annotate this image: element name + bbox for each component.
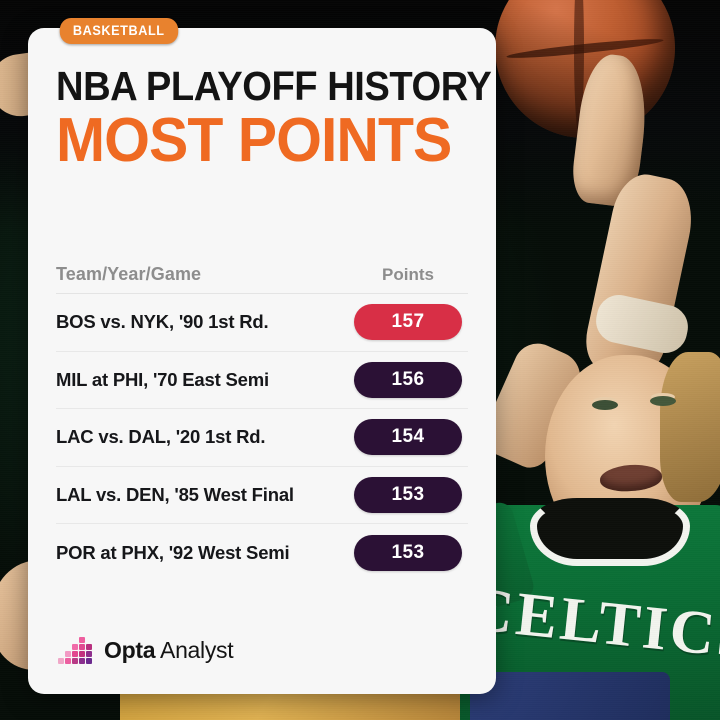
card-footer: Opta Analyst <box>28 606 496 694</box>
brand-wordmark: Opta Analyst <box>104 637 233 664</box>
table-row: LAC vs. DAL, '20 1st Rd.154 <box>56 409 468 467</box>
opta-bar-mark-icon <box>58 636 94 664</box>
card-header: NBA PLAYOFF HISTORY MOST POINTS <box>28 28 496 172</box>
points-pill: 154 <box>354 419 462 455</box>
row-team-label: LAC vs. DAL, '20 1st Rd. <box>56 426 348 448</box>
table-header-row: Team/Year/Game Points <box>56 246 468 294</box>
row-team-label: BOS vs. NYK, '90 1st Rd. <box>56 311 348 333</box>
background-shorts-right <box>470 672 670 720</box>
row-points-cell: 153 <box>348 477 468 513</box>
points-pill: 156 <box>354 362 462 398</box>
logo-square <box>65 651 71 657</box>
logo-square <box>72 651 78 657</box>
stats-table: Team/Year/Game Points BOS vs. NYK, '90 1… <box>28 246 496 582</box>
table-row: POR at PHX, '92 West Semi153 <box>56 524 468 582</box>
row-team-label: POR at PHX, '92 West Semi <box>56 542 348 564</box>
table-body: BOS vs. NYK, '90 1st Rd.157MIL at PHI, '… <box>56 294 468 582</box>
brand-name-bold: Opta <box>104 637 155 663</box>
logo-square <box>58 658 64 664</box>
points-pill: 153 <box>354 477 462 513</box>
stat-card: NBA PLAYOFF HISTORY MOST POINTS Team/Yea… <box>28 28 496 694</box>
jersey-collar <box>530 498 690 566</box>
logo-square <box>86 658 92 664</box>
logo-square <box>79 651 85 657</box>
points-pill-highlighted: 157 <box>354 304 462 340</box>
brand-name-light: Analyst <box>155 637 233 663</box>
logo-square <box>79 637 85 643</box>
table-row: LAL vs. DEN, '85 West Final153 <box>56 467 468 525</box>
column-header-team: Team/Year/Game <box>56 264 348 293</box>
player-hair <box>660 352 720 502</box>
logo-square <box>79 644 85 650</box>
logo-square <box>72 644 78 650</box>
page-title-primary: NBA PLAYOFF HISTORY <box>56 66 439 108</box>
player-eye-left <box>592 400 618 410</box>
logo-square <box>72 658 78 664</box>
row-points-cell: 154 <box>348 419 468 455</box>
logo-square <box>79 658 85 664</box>
table-row: BOS vs. NYK, '90 1st Rd.157 <box>56 294 468 352</box>
logo-square <box>86 644 92 650</box>
row-team-label: MIL at PHI, '70 East Semi <box>56 369 348 391</box>
table-row: MIL at PHI, '70 East Semi156 <box>56 352 468 410</box>
row-points-cell: 156 <box>348 362 468 398</box>
points-pill: 153 <box>354 535 462 571</box>
page-title-secondary: MOST POINTS <box>56 110 447 172</box>
logo-square <box>65 658 71 664</box>
row-points-cell: 153 <box>348 535 468 571</box>
row-team-label: LAL vs. DEN, '85 West Final <box>56 484 348 506</box>
row-points-cell: 157 <box>348 304 468 340</box>
column-header-points: Points <box>348 265 468 293</box>
logo-square <box>86 651 92 657</box>
category-badge: BASKETBALL <box>60 18 178 44</box>
player-eye-right <box>650 396 676 406</box>
